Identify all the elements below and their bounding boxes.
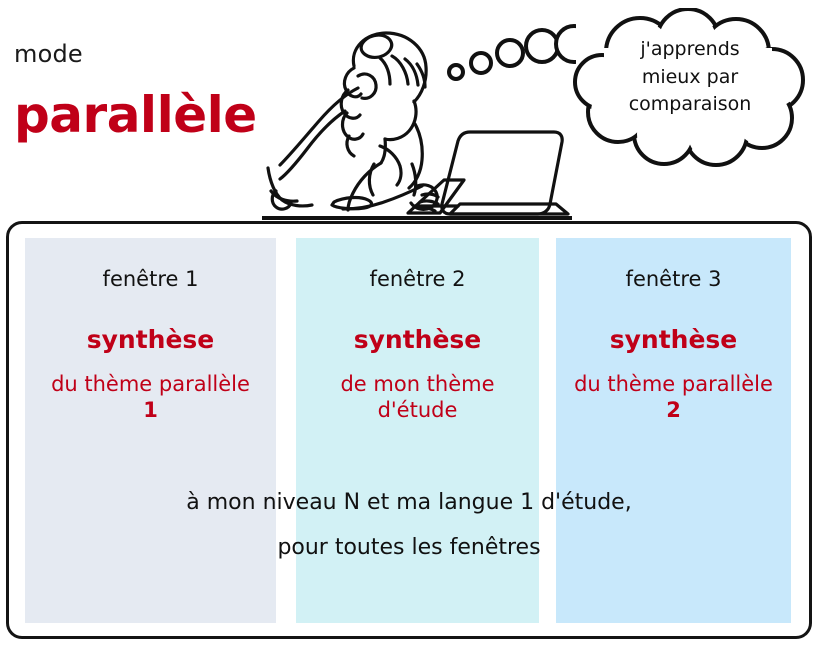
window-panel-2-number: d'étude bbox=[296, 398, 539, 424]
thought-bubble-line-1: j'apprends bbox=[576, 36, 804, 64]
window-panel-1-subtitle: du thème parallèle 1 bbox=[25, 372, 276, 423]
mode-label: mode bbox=[14, 42, 83, 66]
page-title: parallèle bbox=[14, 90, 257, 140]
window-panel-3-heading: fenêtre 3 bbox=[556, 269, 791, 290]
window-panel-3-content: fenêtre 3 synthèse du thème parallèle 2 bbox=[556, 238, 791, 423]
window-panel-3-subtitle: du thème parallèle 2 bbox=[556, 372, 791, 423]
window-panel-3-subtitle-text: du thème parallèle bbox=[574, 372, 773, 396]
window-panel-1-number: 1 bbox=[25, 398, 276, 424]
window-panel-1-synthesis: synthèse bbox=[25, 327, 276, 352]
thought-bubble-line-3: comparaison bbox=[576, 91, 804, 119]
window-panel-3-number: 2 bbox=[556, 398, 791, 424]
header: mode parallèle bbox=[0, 0, 829, 218]
window-panel-2[interactable]: fenêtre 2 synthèse de mon thème d'étude bbox=[296, 238, 539, 623]
window-panel-2-subtitle: de mon thème d'étude bbox=[296, 372, 539, 423]
window-panel-2-content: fenêtre 2 synthèse de mon thème d'étude bbox=[296, 238, 539, 423]
window-panel-1-content: fenêtre 1 synthèse du thème parallèle 1 bbox=[25, 238, 276, 423]
window-panel-2-heading: fenêtre 2 bbox=[296, 269, 539, 290]
window-panel-3[interactable]: fenêtre 3 synthèse du thème parallèle 2 bbox=[556, 238, 791, 623]
window-panel-1-heading: fenêtre 1 bbox=[25, 269, 276, 290]
window-panel-3-synthesis: synthèse bbox=[556, 327, 791, 352]
thought-bubble-text: j'apprends mieux par comparaison bbox=[576, 36, 804, 119]
window-panel-2-synthesis: synthèse bbox=[296, 327, 539, 352]
window-panel-1-subtitle-text: du thème parallèle bbox=[51, 372, 250, 396]
thought-dots-icon bbox=[446, 22, 576, 84]
thought-bubble-line-2: mieux par bbox=[576, 64, 804, 92]
window-panel-2-subtitle-text: de mon thème bbox=[340, 372, 494, 396]
window-panel-1[interactable]: fenêtre 1 synthèse du thème parallèle 1 bbox=[25, 238, 276, 623]
